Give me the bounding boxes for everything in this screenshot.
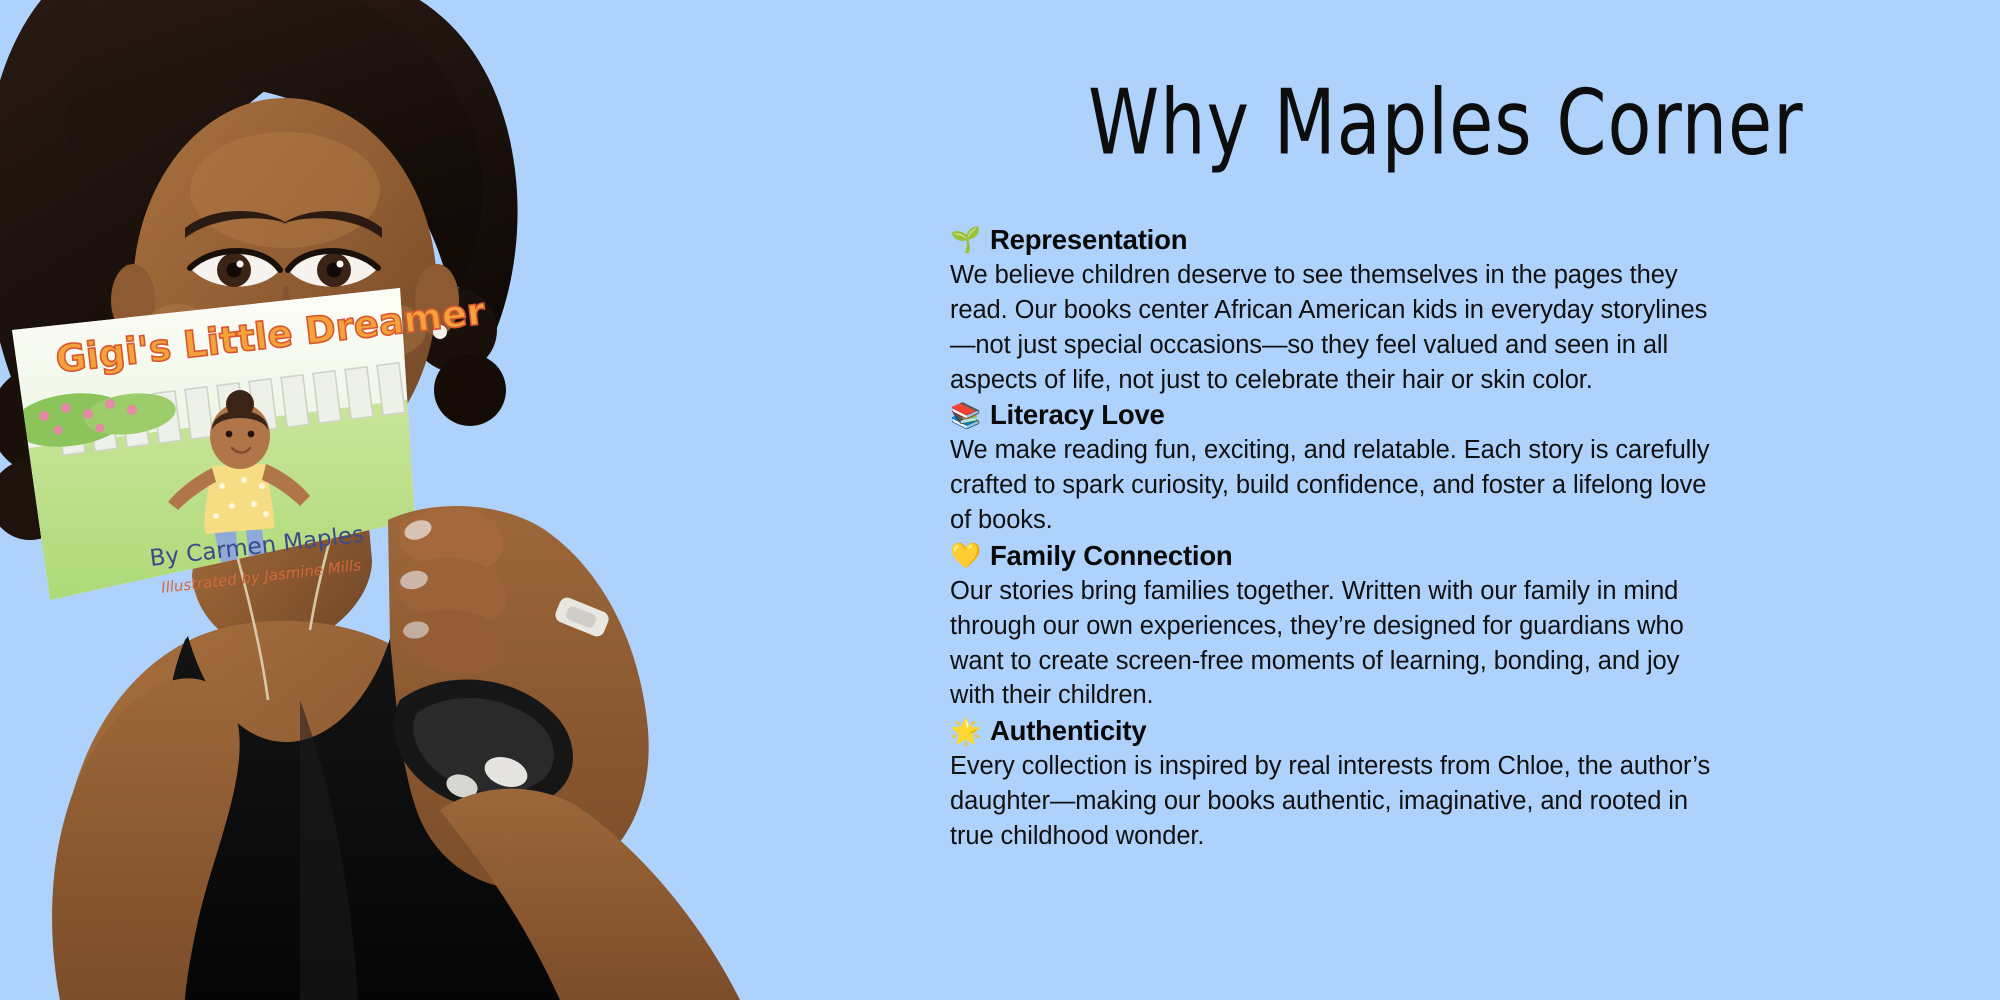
feature-body: We believe children deserve to see thems…	[950, 258, 1715, 398]
feature-body: Every collection is inspired by real int…	[950, 749, 1715, 854]
feature-heading-row: 🌟 Authenticity	[950, 713, 1715, 749]
feature-heading-row: 💛 Family Connection	[950, 538, 1715, 574]
feature-heading: Representation	[990, 222, 1187, 258]
feature-heading: Family Connection	[990, 538, 1233, 574]
author-photo: Gigi's Little Dreamer By Carmen Maples I…	[0, 0, 930, 1000]
glowing-star-icon: 🌟	[950, 719, 981, 744]
feature-heading-row: 🌱 Representation	[950, 222, 1715, 258]
feature-heading-row: 📚 Literacy Love	[950, 397, 1715, 433]
feature-list: 🌱 Representation We believe children des…	[950, 222, 1715, 854]
feature-item-family-connection: 💛 Family Connection Our stories bring fa…	[950, 538, 1715, 713]
feature-body: We make reading fun, exciting, and relat…	[950, 433, 1715, 538]
feature-item-literacy-love: 📚 Literacy Love We make reading fun, exc…	[950, 397, 1715, 538]
content-panel: Why Maples Corner 🌱 Representation We be…	[950, 0, 2000, 1000]
yellow-heart-icon: 💛	[950, 543, 981, 568]
author-photo-illustration: Gigi's Little Dreamer By Carmen Maples I…	[0, 0, 930, 1000]
books-icon: 📚	[950, 403, 981, 428]
feature-heading: Literacy Love	[990, 397, 1165, 433]
page-title: Why Maples Corner	[966, 78, 1985, 168]
feature-heading: Authenticity	[990, 713, 1147, 749]
feature-body: Our stories bring families together. Wri…	[950, 574, 1715, 714]
feature-item-authenticity: 🌟 Authenticity Every collection is inspi…	[950, 713, 1715, 854]
feature-item-representation: 🌱 Representation We believe children des…	[950, 222, 1715, 397]
seedling-icon: 🌱	[950, 227, 981, 252]
